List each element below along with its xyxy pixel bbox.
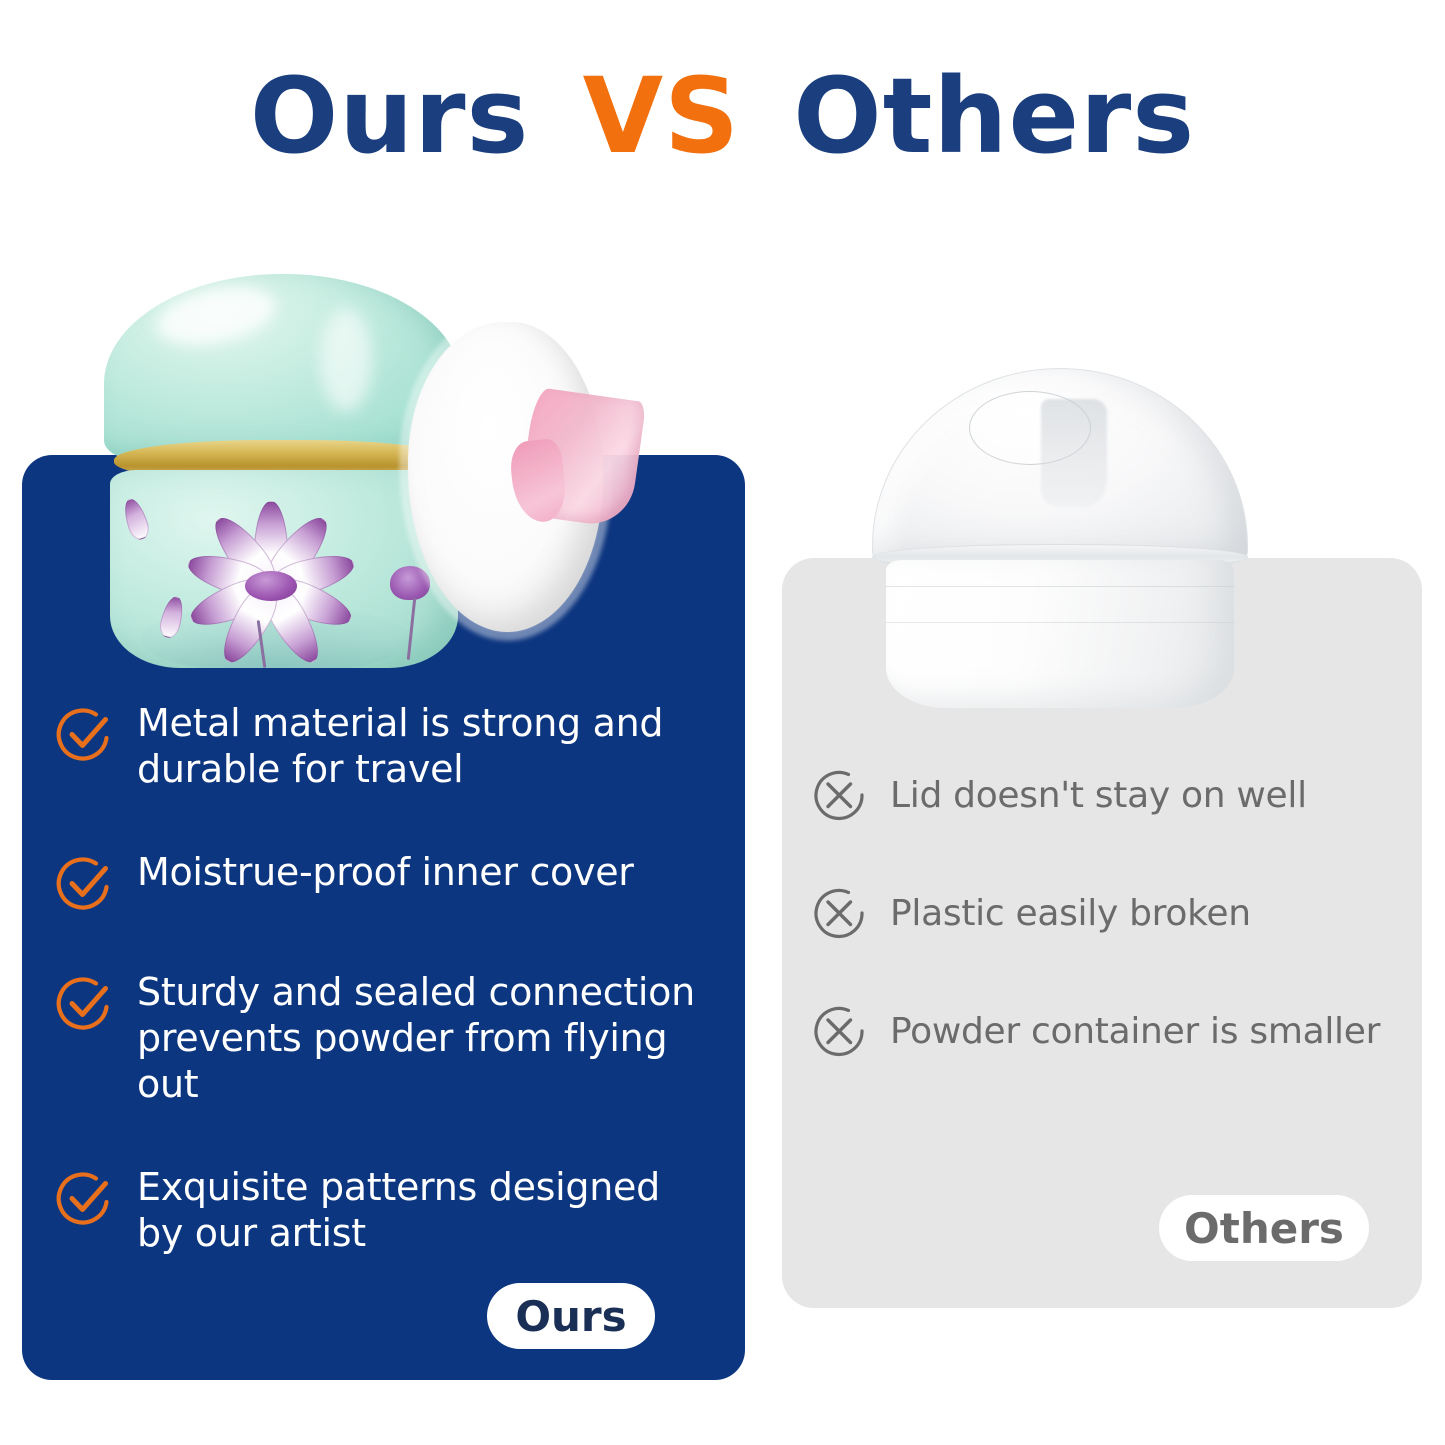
- lotus-flower-icon: [166, 512, 376, 662]
- drawback-label: Powder container is smaller: [890, 1010, 1380, 1053]
- feature-item: Sturdy and sealed connection prevents po…: [55, 969, 725, 1108]
- feature-label: Sturdy and sealed connection prevents po…: [137, 969, 717, 1108]
- feature-item: Exquisite patterns designed by our artis…: [55, 1164, 725, 1257]
- plastic-container-base: [886, 560, 1234, 708]
- check-circle-icon: [55, 1168, 115, 1228]
- feature-label: Moistrue-proof inner cover: [137, 849, 634, 895]
- feature-item: Metal material is strong and durable for…: [55, 700, 725, 793]
- lotus-center: [245, 571, 297, 601]
- lotus-bud-left: [120, 496, 152, 542]
- feature-label: Exquisite patterns designed by our artis…: [137, 1164, 717, 1257]
- others-drawback-list: Lid doesn't stay on well Plastic easily …: [812, 768, 1412, 1060]
- others-badge: Others: [1159, 1195, 1369, 1261]
- x-circle-icon: [812, 886, 868, 942]
- ours-product-image: [70, 252, 760, 672]
- ours-badge: Ours: [487, 1283, 655, 1349]
- drawback-item: Plastic easily broken: [812, 886, 1412, 942]
- comparison-infographic: Ours VS Others: [0, 0, 1445, 1445]
- others-product-image: [860, 368, 1260, 708]
- x-circle-icon: [812, 768, 868, 824]
- ours-feature-list: Metal material is strong and durable for…: [55, 700, 725, 1257]
- clear-dome-lid: [872, 368, 1248, 564]
- check-circle-icon: [55, 853, 115, 913]
- drawback-item: Powder container is smaller: [812, 1004, 1412, 1060]
- page-title: Ours VS Others: [0, 62, 1445, 171]
- puff-pink-handle: [518, 387, 647, 529]
- drawback-label: Lid doesn't stay on well: [890, 774, 1307, 817]
- feature-item: Moistrue-proof inner cover: [55, 849, 725, 913]
- drawback-item: Lid doesn't stay on well: [812, 768, 1412, 824]
- check-circle-icon: [55, 973, 115, 1033]
- title-ours-word: Ours: [250, 55, 530, 177]
- check-circle-icon: [55, 704, 115, 764]
- x-circle-icon: [812, 1004, 868, 1060]
- drawback-label: Plastic easily broken: [890, 892, 1251, 935]
- powder-puff: [408, 322, 628, 632]
- feature-label: Metal material is strong and durable for…: [137, 700, 717, 793]
- title-others-word: Others: [793, 55, 1195, 177]
- title-vs-word: VS: [583, 55, 740, 177]
